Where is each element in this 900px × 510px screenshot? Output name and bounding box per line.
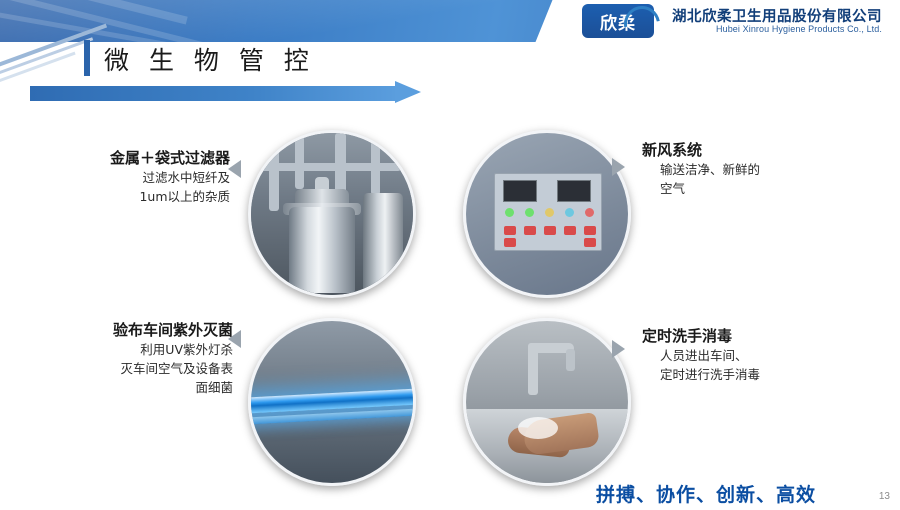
faucet-outlet [566,349,575,371]
display-1 [503,180,537,202]
header-banner: 欣柔 湖北欣柔卫生用品股份有限公司 Hubei Xinrou Hygiene P… [0,0,900,42]
secondary-vessel [363,193,403,293]
indicator-lamp-5 [585,208,594,217]
display-2 [557,180,591,202]
page-title: 微 生 物 管 控 [104,41,315,77]
caption-line-1: 人员进出车间、 [642,346,852,365]
caption-line-2: 1um以上的杂质 [60,187,230,206]
caption-uv: 验布车间紫外灭菌 利用UV紫外灯杀 灭车间空气及设备表 面细菌 [55,320,233,397]
panel-button-5 [584,226,596,235]
slide-canvas: 欣柔 湖北欣柔卫生用品股份有限公司 Hubei Xinrou Hygiene P… [0,0,900,510]
indicator-lamp-4 [565,208,574,217]
indicator-lamp-3 [545,208,554,217]
caption-line-2: 空气 [642,179,842,198]
marker-triangle-freshair [612,158,625,176]
page-number: 13 [879,491,890,502]
caption-handwash: 定时洗手消毒 人员进出车间、 定时进行洗手消毒 [642,326,852,384]
caption-filter: 金属＋袋式过滤器 过滤水中短纤及 1um以上的杂质 [60,148,230,206]
marker-triangle-handwash [612,340,625,358]
caption-heading: 验布车间紫外灭菌 [55,320,233,340]
title-accent-bar [84,40,90,76]
hand-washing-photo [463,318,631,486]
panel-button-2 [524,226,536,235]
caption-line-1: 输送洁净、新鲜的 [642,160,842,179]
pipe-2 [295,133,304,189]
caption-heading: 新风系统 [642,140,842,160]
caption-heading: 定时洗手消毒 [642,326,852,346]
control-panel-photo [463,130,631,298]
arrow-head-icon [395,81,421,103]
soap-foam [518,417,558,439]
title-arrow-graphic [30,82,420,104]
company-name-cn: 湖北欣柔卫生用品股份有限公司 [672,5,882,26]
filter-photo [248,130,416,298]
panel-button-3 [544,226,556,235]
caption-fresh-air: 新风系统 输送洁净、新鲜的 空气 [642,140,842,198]
uv-lamp-photo [248,318,416,486]
indicator-lamp-2 [525,208,534,217]
arrow-shaft [30,86,400,101]
filter-vessel [289,207,355,293]
caption-line-1: 过滤水中短纤及 [60,168,230,187]
panel-body [494,173,602,251]
panel-button-1 [504,226,516,235]
company-name-en: Hubei Xinrou Hygiene Products Co., Ltd. [716,24,882,34]
panel-button-6 [504,238,516,247]
caption-line-3: 面细菌 [55,378,233,397]
slogan-text: 拼搏、协作、创新、高效 [596,480,816,507]
panel-button-4 [564,226,576,235]
indicator-lamp-1 [505,208,514,217]
pipe-horizontal [261,163,401,171]
caption-heading: 金属＋袋式过滤器 [60,148,230,168]
caption-line-1: 利用UV紫外灯杀 [55,340,233,359]
caption-line-2: 灭车间空气及设备表 [55,359,233,378]
caption-line-2: 定时进行洗手消毒 [642,365,852,384]
pipe-1 [269,141,279,211]
panel-button-7 [584,238,596,247]
